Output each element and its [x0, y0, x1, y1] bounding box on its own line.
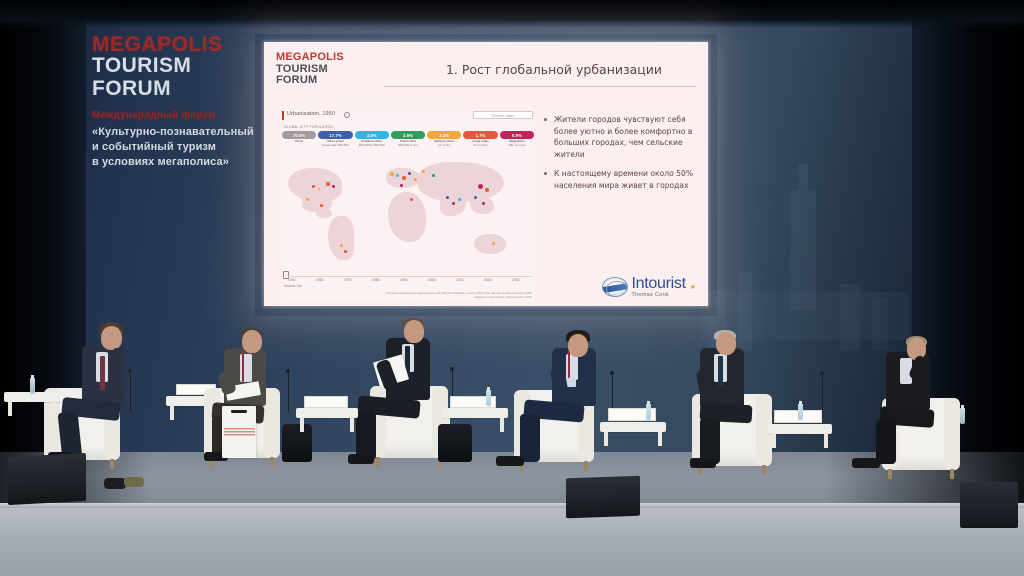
- legend-item-megacities[interactable]: 0.9% Megacities 10m or more: [500, 131, 534, 139]
- legend-value-6: 0.9%: [512, 133, 522, 138]
- world-map[interactable]: [282, 152, 534, 270]
- panelist-4-lanyard: [568, 352, 570, 378]
- legend-label-2: Smallest cities 300,000 to 500,000: [355, 140, 389, 148]
- legend-label-5: Large cities 5m to 10m: [463, 140, 497, 148]
- timeline-tick-2010: 2010: [456, 278, 464, 282]
- shoes-on-floor-2: [124, 477, 144, 487]
- microphone-4: [610, 371, 614, 375]
- microphone-1: [128, 369, 132, 373]
- timeline-tick-2000: 2000: [428, 278, 436, 282]
- panelist-2-lanyard: [242, 352, 244, 382]
- backdrop-top-shadow: [0, 0, 1024, 28]
- star-icon: ★: [690, 283, 696, 291]
- floor-monitor-right: [960, 482, 1018, 528]
- side-table-3: [442, 408, 508, 418]
- legend-item-large-cities[interactable]: 1.7% Large cities 5m to 10m: [463, 131, 497, 139]
- side-table-5: [768, 424, 832, 434]
- microphone-3: [450, 367, 454, 371]
- slide-title: 1. Рост глобальной урбанизации: [414, 62, 694, 77]
- city-silhouette-graphic: [690, 150, 920, 350]
- slide-bullets: Жители городов чувствуют себя более уютн…: [542, 114, 694, 199]
- timeline-tick-1950: 1950: [288, 278, 296, 282]
- intourist-name: Intourist: [632, 276, 686, 292]
- panelist-2-head: [242, 330, 262, 353]
- chart-timeline[interactable]: 1950 1960 1970 1980 1990 2000 2010 2020 …: [282, 272, 534, 290]
- slide-logo: MEGAPOLIS TOURISM FORUM: [276, 52, 344, 87]
- stage-front-panel: [0, 508, 1024, 576]
- panelist-4-head: [568, 334, 588, 357]
- legend-value-3: 2.6%: [403, 133, 413, 138]
- intourist-wordmark: Intourist Thomas Cook: [632, 276, 686, 299]
- projection-screen: MEGAPOLIS TOURISM FORUM 1. Рост глобальн…: [264, 42, 708, 306]
- chart-search-input[interactable]: Search cities: [473, 111, 533, 119]
- slide-bullet-2: К настоящему времени около 50% населения…: [542, 168, 694, 191]
- chart-accent-bar: [282, 111, 284, 120]
- panelist-6-shin: [876, 420, 896, 464]
- panelist-3-shin: [356, 412, 376, 460]
- panelist-6-shoe: [852, 458, 880, 468]
- legend-item-small-cities[interactable]: 2.6% Small cities 500,000 to 1m: [391, 131, 425, 139]
- legend-item-rural[interactable]: 70.0% Rural: [282, 131, 316, 139]
- legend-item-medium-cities[interactable]: 3.1% Medium cities 1m to 5m: [427, 131, 461, 139]
- conference-panel-photo: MEGAPOLIS TOURISM FORUM Международный фо…: [0, 0, 1024, 576]
- panelist-4-shin: [520, 414, 540, 462]
- side-table-2: [296, 408, 358, 418]
- legend-value-0: 70.0%: [293, 133, 305, 138]
- timeline-tick-2030: 2030: [512, 278, 520, 282]
- timeline-track: [288, 276, 532, 277]
- microphone-2: [286, 369, 290, 373]
- legend-item-smallest-cities[interactable]: 3.0% Smallest cities 300,000 to 500,000: [355, 131, 389, 139]
- brand-tourism: TOURISM: [92, 55, 282, 78]
- legend-label-0: Rural: [282, 140, 316, 144]
- water-bottle-3: [798, 404, 803, 420]
- legend-label-6: Megacities 10m or more: [500, 140, 534, 148]
- white-tote-bag: [222, 406, 256, 458]
- microphone-5: [820, 371, 824, 375]
- intourist-tagline: Thomas Cook: [632, 293, 686, 299]
- panelist-3-head: [404, 320, 424, 343]
- chart-source: Source: UN: [284, 284, 302, 288]
- brand-megapolis: MEGAPOLIS: [92, 34, 282, 55]
- panelist-3-shoe: [348, 454, 374, 464]
- panelist-1-head: [101, 326, 122, 350]
- slide-logo-line1: MEGAPOLIS: [276, 52, 344, 64]
- panelist-5-tie: [718, 356, 723, 386]
- forum-branding: MEGAPOLIS TOURISM FORUM Международный фо…: [92, 34, 282, 170]
- timeline-tick-1960: 1960: [316, 278, 324, 282]
- chart-title: Urbanisation, 1950: [287, 111, 335, 117]
- floor-monitor-center: [566, 476, 640, 519]
- timeline-tick-2020: 2020: [484, 278, 492, 282]
- panelist-5-shoe: [690, 458, 716, 468]
- chart-legend: 70.0% Rural 17.7% Other urban Fewer than…: [282, 131, 534, 143]
- microphone-stand-4: [612, 374, 613, 412]
- legend-value-5: 1.7%: [476, 133, 486, 138]
- urbanisation-chart: Urbanisation, 1950 Search cities GLOBAL …: [282, 110, 534, 300]
- legend-item-other-urban[interactable]: 17.7% Other urban Fewer than 300,000: [318, 131, 352, 139]
- water-bottle-4: [960, 408, 965, 424]
- clock-icon: [344, 112, 350, 118]
- brand-quote-line1: «Культурно-познавательный: [92, 125, 282, 140]
- chart-header: Urbanisation, 1950 Search cities: [282, 110, 534, 122]
- chart-subtitle: GLOBAL CITY POPULATION: [284, 125, 333, 129]
- black-briefcase: [438, 424, 472, 462]
- water-bottle-0: [30, 378, 35, 394]
- intourist-logo: Intourist Thomas Cook ★: [602, 276, 697, 299]
- microphone-stand-1: [130, 372, 131, 412]
- globe-icon: [602, 277, 628, 297]
- brand-quote: «Культурно-познавательный и событийный т…: [92, 125, 282, 171]
- floor-monitor-left: [8, 453, 86, 505]
- panelist-4-shoe: [496, 456, 524, 466]
- shoes-on-floor: [104, 478, 126, 489]
- water-bottle-1: [486, 390, 491, 406]
- brand-forum: FORUM: [92, 78, 282, 101]
- slide-bullet-1: Жители городов чувствуют себя более уютн…: [542, 114, 694, 160]
- chart-footnote: Thousand urbanised areas agglomerations …: [382, 292, 532, 300]
- slide-logo-line3: FORUM: [276, 75, 344, 87]
- brand-quote-line2: и событийный туризм: [92, 140, 282, 155]
- brand-subtitle-ru: Международный форум: [92, 110, 282, 122]
- timeline-tick-1970: 1970: [344, 278, 352, 282]
- microphone-stand-2: [288, 372, 289, 412]
- panelist-5-head: [716, 332, 736, 355]
- brand-quote-line3: в условиях мегаполиса»: [92, 155, 282, 170]
- microphone-stand-5: [822, 374, 823, 414]
- timeline-tick-1980: 1980: [372, 278, 380, 282]
- side-table-4: [600, 422, 666, 432]
- panelist-1-tie: [100, 356, 105, 390]
- legend-label-3: Small cities 500,000 to 1m: [391, 140, 425, 148]
- legend-label-4: Medium cities 1m to 5m: [427, 140, 461, 148]
- black-backpack: [282, 424, 312, 462]
- name-placard-2: [304, 396, 348, 408]
- legend-label-1: Other urban Fewer than 300,000: [318, 140, 352, 148]
- legend-value-4: 3.1%: [439, 133, 449, 138]
- timeline-tick-1990: 1990: [400, 278, 408, 282]
- legend-value-1: 17.7%: [329, 133, 341, 138]
- legend-value-2: 3.0%: [367, 133, 377, 138]
- water-bottle-2: [646, 404, 651, 420]
- slide-title-divider: [384, 86, 696, 87]
